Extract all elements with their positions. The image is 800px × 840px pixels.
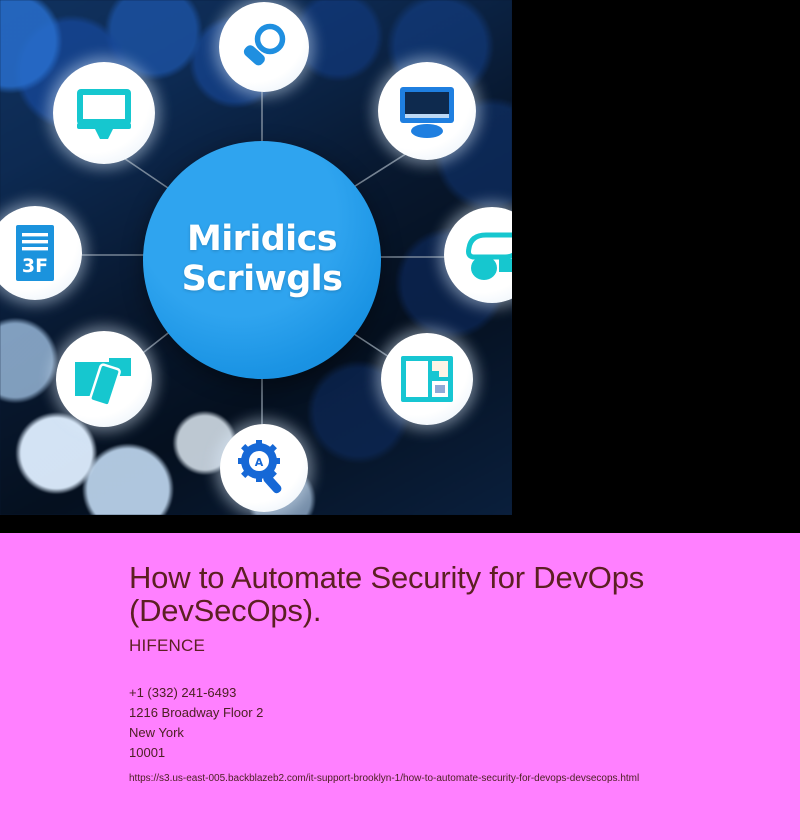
hero-band: 3F [0,0,800,533]
node-dashboard-layout [381,333,473,425]
desktop-monitor-icon [73,85,135,141]
cloud-shape-icon [461,226,512,284]
node-desktop-monitor [53,62,155,164]
node-television [378,62,476,160]
brand-name: HIFENCE [129,636,769,656]
page-title: How to Automate Security for DevOps (Dev… [129,561,704,627]
hub-text-line-2: Scriwgls [182,261,343,299]
meta-content: How to Automate Security for DevOps (Dev… [129,561,769,785]
contact-street: 1216 Broadway Floor 2 [129,703,769,723]
contact-city: New York [129,723,769,743]
node-device-tilt [56,331,152,427]
svg-text:3F: 3F [22,255,48,277]
contact-phone: +1 (332) 241-6493 [129,683,769,703]
page-root: 3F [0,0,800,840]
gear-magnifier-icon: A [235,439,293,497]
node-gear-magnifier: A [220,424,308,512]
contact-block: +1 (332) 241-6493 1216 Broadway Floor 2 … [129,683,769,763]
hub-text-line-1: Miridics [187,221,337,259]
document-server-icon: 3F [10,223,60,283]
hub-circle: Miridics Scriwgls [143,141,381,379]
television-icon [396,84,458,138]
magnifier-icon [237,20,291,74]
node-magnifier [219,2,309,92]
svg-text:A: A [255,456,264,469]
hero-infographic-image: 3F [0,0,512,515]
device-tilt-icon [73,350,135,408]
source-url-link[interactable]: https://s3.us-east-005.backblazeb2.com/i… [129,772,769,785]
meta-panel: How to Automate Security for DevOps (Dev… [0,533,800,840]
contact-zip: 10001 [129,743,769,763]
dashboard-layout-icon [398,353,456,405]
